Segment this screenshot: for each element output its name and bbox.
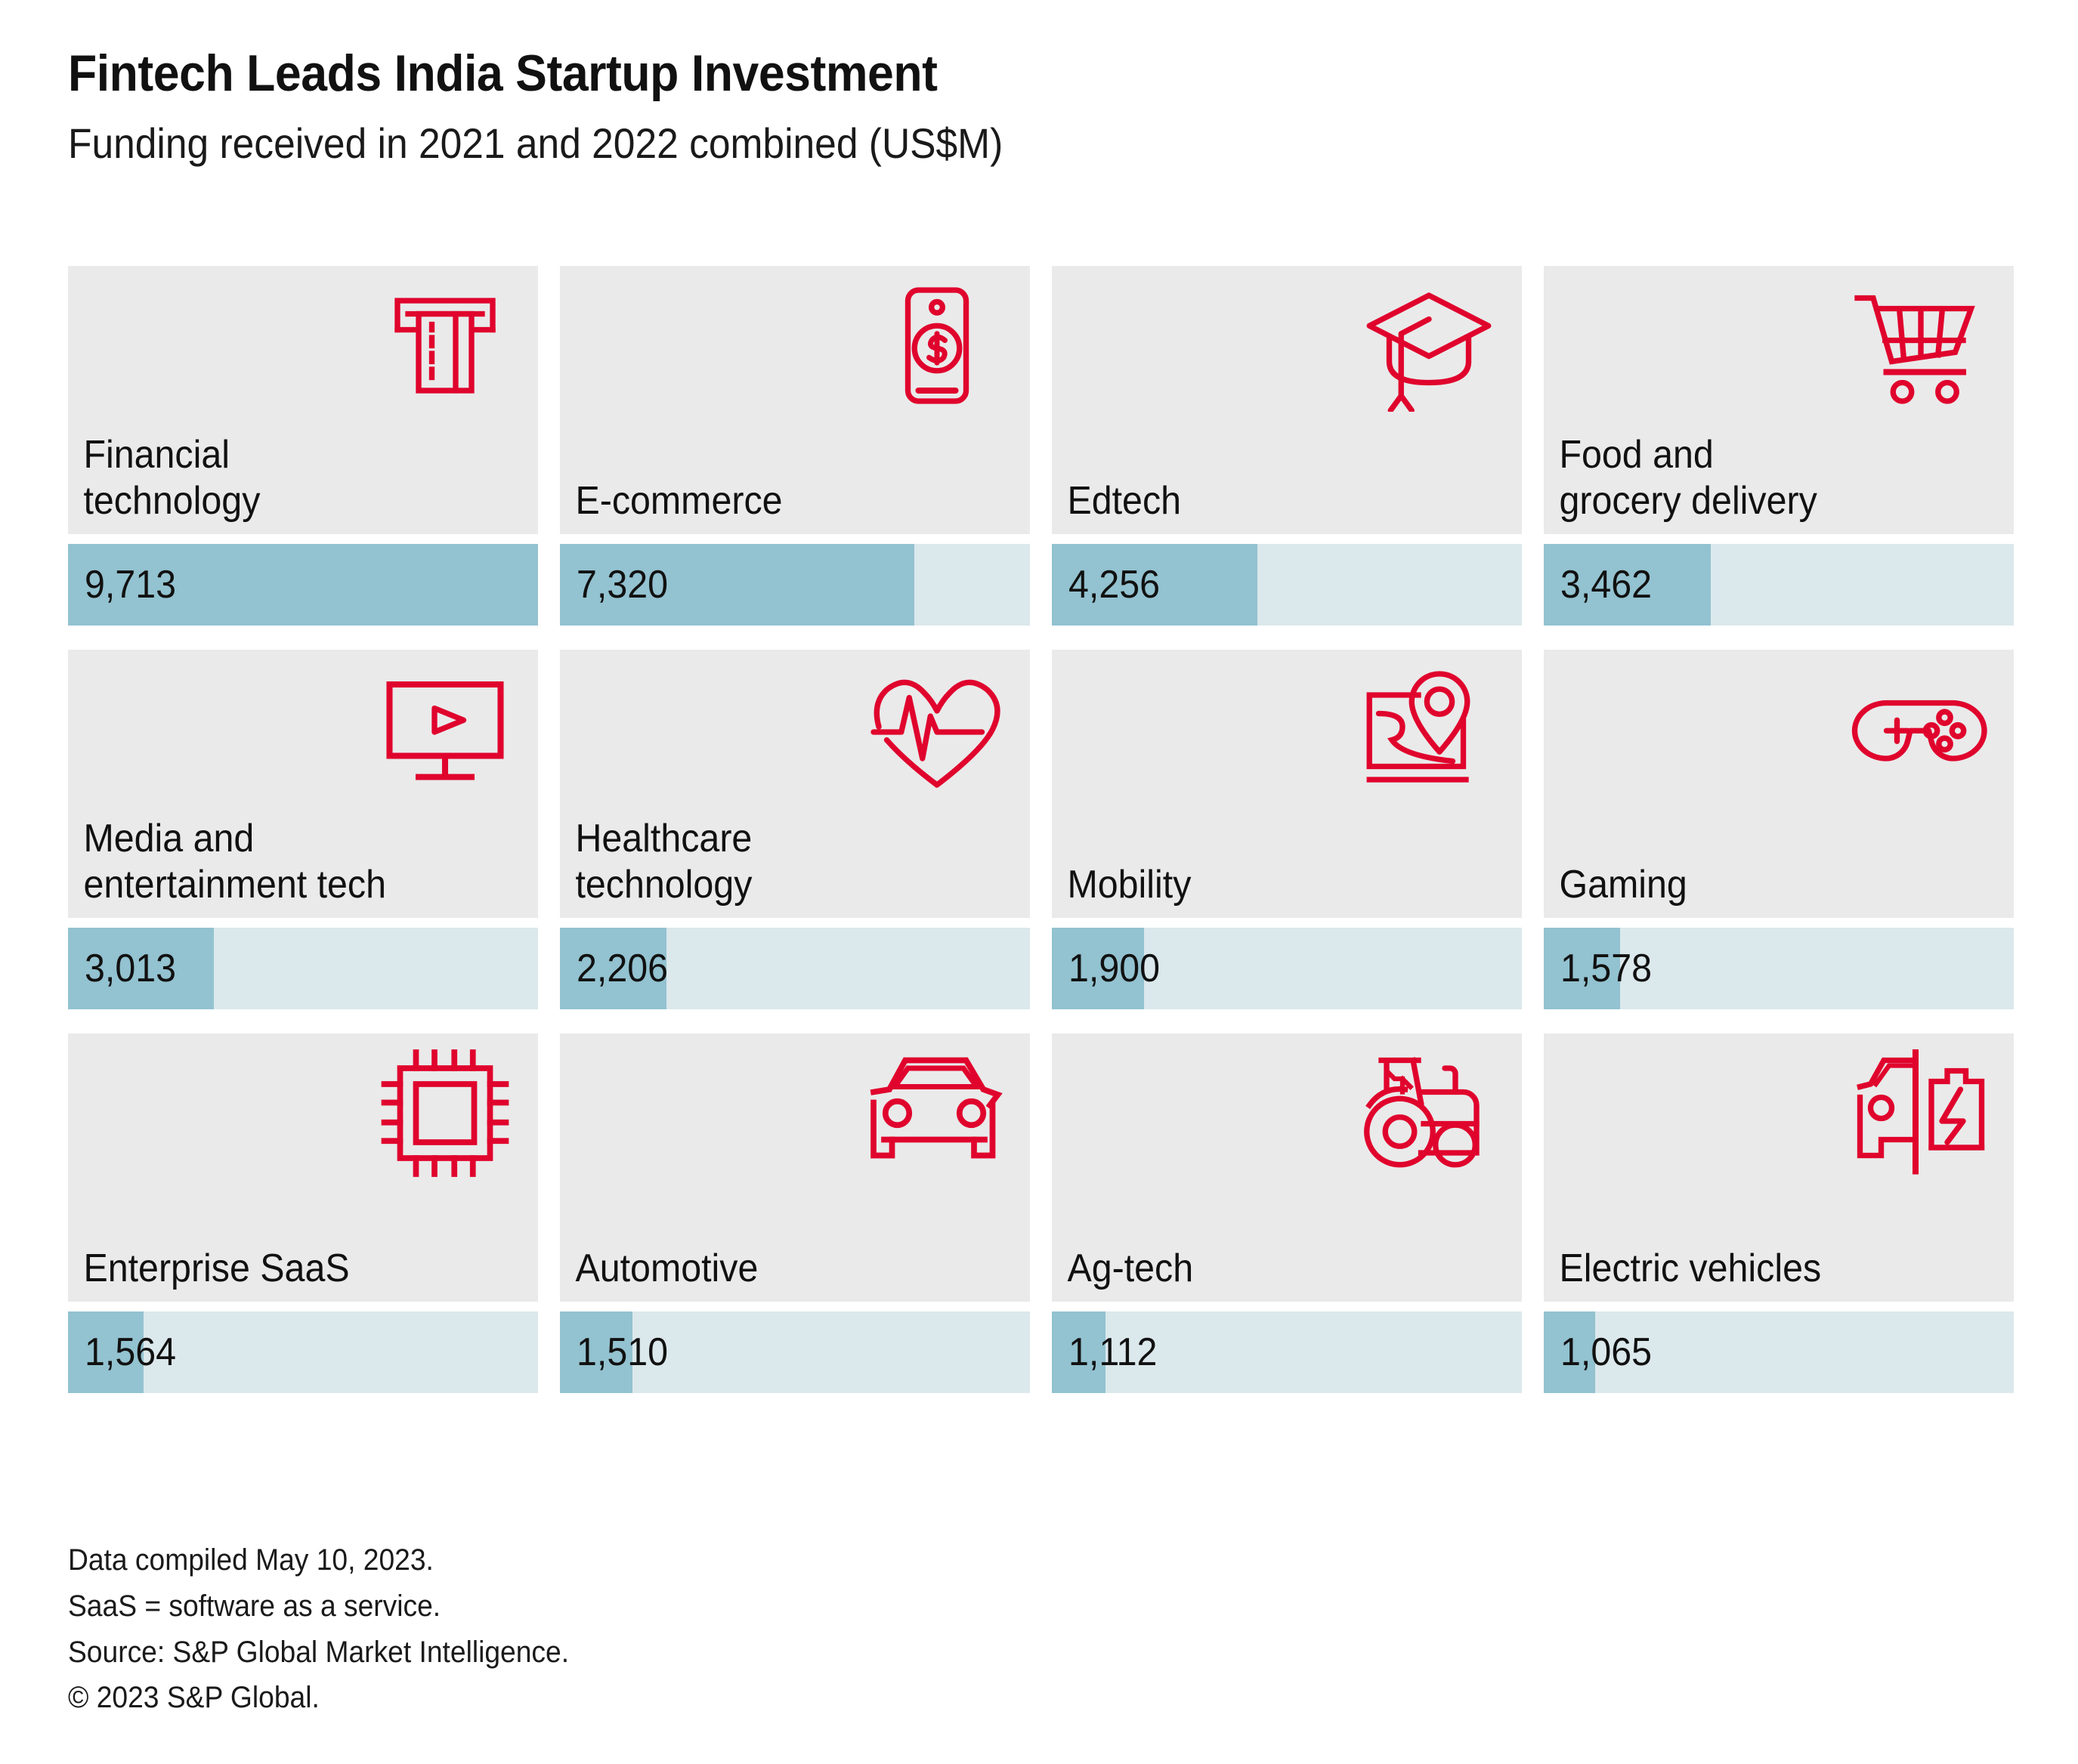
card-label: Automotive: [560, 1246, 997, 1291]
bar-track: 1,900: [1052, 928, 1522, 1009]
bar-track: 3,013: [68, 928, 538, 1009]
card-panel: Enterprise SaaS: [68, 1033, 538, 1302]
mobile-payment-icon: [865, 280, 1009, 412]
tractor-icon: [1357, 1047, 1501, 1179]
header: Fintech Leads India Startup Investment F…: [0, 0, 2078, 167]
card-label: Enterprise SaaS: [68, 1246, 505, 1291]
category-card: E-commerce7,320: [560, 266, 1030, 626]
category-card: Healthcare technology2,206: [560, 650, 1030, 1009]
monitor-play-icon: [373, 663, 517, 795]
bar-track: 1,065: [1544, 1311, 2014, 1393]
card-spacer: [68, 1302, 538, 1311]
card-label: Edtech: [1052, 478, 1489, 524]
card-label: Media and entertainment tech: [68, 816, 505, 907]
card-label: Financial technology: [68, 432, 505, 524]
card-spacer: [1052, 918, 1522, 928]
bar-value-label: 1,510: [577, 1333, 668, 1372]
graduation-cap-icon: [1357, 280, 1501, 412]
category-card: Automotive1,510: [560, 1033, 1030, 1393]
bar-track: 9,713: [68, 544, 538, 626]
card-label: E-commerce: [560, 478, 997, 524]
card-panel: Media and entertainment tech: [68, 650, 538, 918]
category-card-grid: Financial technology9,713E-commerce7,320…: [68, 266, 2014, 1393]
card-spacer: [1052, 1302, 1522, 1311]
page-title: Fintech Leads India Startup Investment: [68, 47, 1917, 100]
footer-line-data-compiled: Data compiled May 10, 2023.: [68, 1537, 569, 1583]
card-spacer: [68, 534, 538, 544]
card-panel: E-commerce: [560, 266, 1030, 534]
car-front-icon: [865, 1047, 1009, 1179]
card-spacer: [1544, 918, 2014, 928]
card-panel: Food and grocery delivery: [1544, 266, 2014, 534]
bar-track: 1,510: [560, 1311, 1030, 1393]
bar-track: 4,256: [1052, 544, 1522, 626]
card-spacer: [68, 918, 538, 928]
bar-value-label: 1,900: [1068, 949, 1160, 988]
bar-value-label: 1,065: [1560, 1333, 1652, 1372]
card-spacer: [1544, 534, 2014, 544]
shopping-cart-icon: [1849, 280, 1993, 412]
footer-line-source: Source: S&P Global Market Intelligence.: [68, 1630, 569, 1676]
card-label: Mobility: [1052, 862, 1489, 907]
map-pin-icon: [1357, 663, 1501, 795]
bar-value-label: 1,578: [1560, 949, 1652, 988]
footer-line-abbreviation: SaaS = software as a service.: [68, 1583, 569, 1630]
card-label: Food and grocery delivery: [1544, 432, 1981, 524]
card-panel: Financial technology: [68, 266, 538, 534]
cpu-chip-icon: [373, 1047, 517, 1179]
heart-pulse-icon: [865, 663, 1009, 795]
card-label: Gaming: [1544, 862, 1981, 907]
bar-track: 7,320: [560, 544, 1030, 626]
bar-value-label: 4,256: [1068, 565, 1160, 604]
category-card: Food and grocery delivery3,462: [1544, 266, 2014, 626]
bar-value-label: 9,713: [85, 565, 176, 604]
card-panel: Electric vehicles: [1544, 1033, 2014, 1302]
bar-value-label: 3,013: [85, 949, 176, 988]
card-panel: Automotive: [560, 1033, 1030, 1302]
page-subtitle: Funding received in 2021 and 2022 combin…: [68, 120, 1917, 167]
ev-charging-icon: [1849, 1047, 1993, 1179]
card-panel: Edtech: [1052, 266, 1522, 534]
footer-notes: Data compiled May 10, 2023. SaaS = softw…: [68, 1537, 607, 1721]
card-label: Electric vehicles: [1544, 1246, 1981, 1291]
bar-value-label: 1,112: [1068, 1333, 1157, 1372]
card-spacer: [1544, 1302, 2014, 1311]
infographic-page: Fintech Leads India Startup Investment F…: [0, 0, 2078, 1764]
card-label: Ag-tech: [1052, 1246, 1489, 1291]
card-panel: Mobility: [1052, 650, 1522, 918]
card-spacer: [560, 918, 1030, 928]
footer-line-copyright: © 2023 S&P Global.: [68, 1675, 569, 1721]
category-card: Gaming1,578: [1544, 650, 2014, 1009]
gamepad-icon: [1849, 663, 1993, 795]
atm-card-icon: [373, 280, 517, 412]
bar-track: 2,206: [560, 928, 1030, 1009]
card-spacer: [1052, 534, 1522, 544]
card-label: Healthcare technology: [560, 816, 997, 907]
bar-track: 1,112: [1052, 1311, 1522, 1393]
bar-value-label: 2,206: [577, 949, 668, 988]
bar-track: 1,578: [1544, 928, 2014, 1009]
category-card: Media and entertainment tech3,013: [68, 650, 538, 1009]
category-card: Mobility1,900: [1052, 650, 1522, 1009]
card-spacer: [560, 534, 1030, 544]
card-panel: Ag-tech: [1052, 1033, 1522, 1302]
bar-track: 1,564: [68, 1311, 538, 1393]
category-card: Enterprise SaaS1,564: [68, 1033, 538, 1393]
category-card: Ag-tech1,112: [1052, 1033, 1522, 1393]
category-card: Electric vehicles1,065: [1544, 1033, 2014, 1393]
card-spacer: [560, 1302, 1030, 1311]
bar-track: 3,462: [1544, 544, 2014, 626]
category-card: Financial technology9,713: [68, 266, 538, 626]
bar-value-label: 7,320: [577, 565, 668, 604]
bar-value-label: 1,564: [85, 1333, 176, 1372]
card-panel: Gaming: [1544, 650, 2014, 918]
category-card: Edtech4,256: [1052, 266, 1522, 626]
bar-value-label: 3,462: [1560, 565, 1652, 604]
card-panel: Healthcare technology: [560, 650, 1030, 918]
